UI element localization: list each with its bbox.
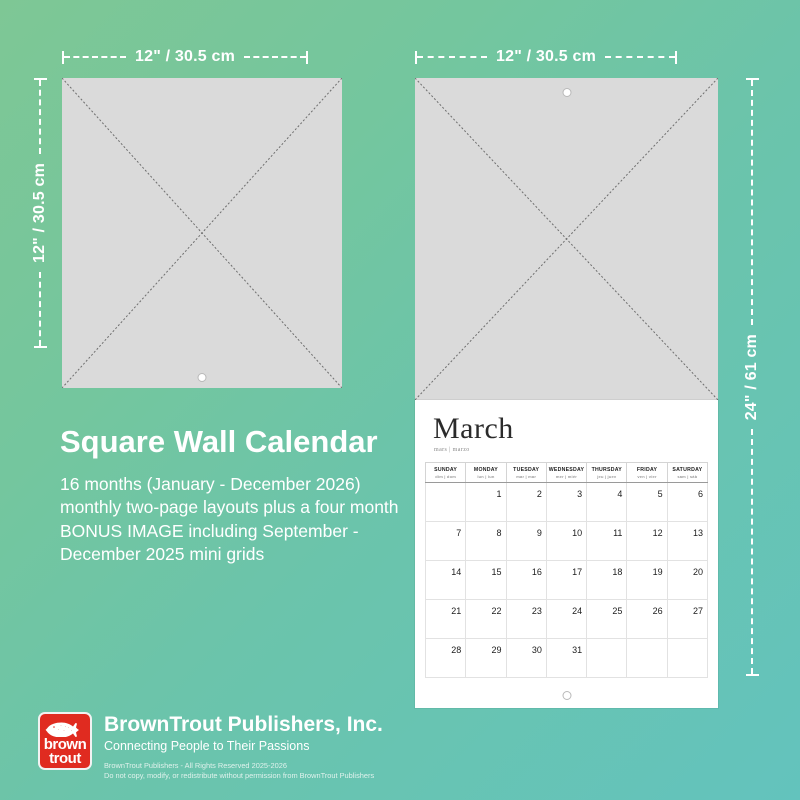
calendar-header-monday: MONDAY lun | lun	[466, 463, 506, 483]
calendar-day-number: 3	[577, 489, 582, 499]
calendar-day-cell: 22	[466, 600, 506, 639]
calendar-day-cell: 24	[546, 600, 586, 639]
weekday-alt: mar | mar	[507, 474, 546, 479]
calendar-day-cell: 15	[466, 561, 506, 600]
calendar-day-number: 5	[658, 489, 663, 499]
calendar-day-number: 23	[532, 606, 542, 616]
dimension-line	[751, 80, 753, 325]
left-cover-panel	[62, 78, 342, 388]
dimension-line	[39, 80, 41, 154]
calendar-day-cell: 16	[506, 561, 546, 600]
legal-line-1: BrownTrout Publishers - All Rights Reser…	[104, 761, 287, 770]
weekday-name: FRIDAY	[627, 467, 666, 473]
right-image-panel	[415, 78, 718, 400]
calendar-empty-cell	[587, 639, 627, 678]
dimension-line	[39, 272, 41, 346]
weekday-alt: mer | miér	[547, 474, 586, 479]
dimension-line	[64, 56, 126, 58]
calendar-day-number: 9	[537, 528, 542, 538]
calendar-header-wednesday: WEDNESDAY mer | miér	[546, 463, 586, 483]
calendar-header-row: SUNDAY dim | dom MONDAY lun | lun TUESDA…	[426, 463, 708, 483]
company-name: BrownTrout Publishers, Inc.	[104, 714, 383, 736]
marketing-text-block: Square Wall Calendar 16 months (January …	[60, 425, 410, 566]
calendar-empty-cell	[426, 483, 466, 522]
dimension-label: 24" / 61 cm	[743, 325, 761, 429]
calendar-day-cell: 20	[667, 561, 707, 600]
calendar-day-cell: 8	[466, 522, 506, 561]
calendar-week-row: 123456	[426, 483, 708, 522]
dimension-label: 12" / 30.5 cm	[487, 48, 605, 66]
browntrout-logo: brown trout	[38, 712, 92, 770]
dimension-cap	[746, 674, 759, 676]
calendar-header-tuesday: TUESDAY mar | mar	[506, 463, 546, 483]
calendar-day-number: 18	[612, 567, 622, 577]
weekday-alt: dim | dom	[426, 474, 465, 479]
dimension-cap	[34, 346, 47, 348]
calendar-header-sunday: SUNDAY dim | dom	[426, 463, 466, 483]
calendar-day-cell: 5	[627, 483, 667, 522]
calendar-day-cell: 11	[587, 522, 627, 561]
dimension-cap	[675, 51, 677, 64]
calendar-body: 1234567891011121314151617181920212223242…	[426, 483, 708, 678]
weekday-alt: sam | sáb	[668, 474, 707, 479]
weekday-name: SUNDAY	[426, 467, 465, 473]
calendar-day-cell: 4	[587, 483, 627, 522]
calendar-day-number: 17	[572, 567, 582, 577]
calendar-day-number: 27	[693, 606, 703, 616]
calendar-day-number: 21	[451, 606, 461, 616]
dimension-line	[417, 56, 487, 58]
calendar-day-cell: 13	[667, 522, 707, 561]
calendar-day-cell: 21	[426, 600, 466, 639]
dimension-cap	[306, 51, 308, 64]
calendar-grid-panel: March mars | marzo SUNDAY dim | dom MOND…	[415, 400, 718, 708]
calendar-month-title: March	[433, 414, 718, 444]
weekday-name: WEDNESDAY	[547, 467, 586, 473]
calendar-day-number: 19	[653, 567, 663, 577]
calendar-day-cell: 14	[426, 561, 466, 600]
page-title: Square Wall Calendar	[60, 425, 410, 459]
legal-line-2: Do not copy, modify, or redistribute wit…	[104, 771, 374, 780]
calendar-day-number: 2	[537, 489, 542, 499]
calendar-day-number: 24	[572, 606, 582, 616]
trout-fish-icon	[43, 720, 87, 737]
logo-word-trout: trout	[49, 752, 81, 766]
dimension-label: 12" / 30.5 cm	[31, 154, 49, 272]
legal-notice: BrownTrout Publishers - All Rights Reser…	[104, 761, 383, 781]
calendar-week-row: 28293031	[426, 639, 708, 678]
calendar-week-row: 78910111213	[426, 522, 708, 561]
calendar-day-cell: 3	[546, 483, 586, 522]
calendar-day-number: 20	[693, 567, 703, 577]
calendar-day-number: 15	[492, 567, 502, 577]
weekday-name: TUESDAY	[507, 467, 546, 473]
calendar-day-cell: 27	[667, 600, 707, 639]
dimension-line	[751, 429, 753, 674]
calendar-day-number: 26	[653, 606, 663, 616]
weekday-alt: jeu | juev	[587, 474, 626, 479]
calendar-day-cell: 30	[506, 639, 546, 678]
calendar-empty-cell	[667, 639, 707, 678]
dimension-line	[244, 56, 306, 58]
dimension-label: 12" / 30.5 cm	[126, 48, 244, 66]
calendar-day-cell: 23	[506, 600, 546, 639]
calendar-day-cell: 12	[627, 522, 667, 561]
calendar-day-number: 13	[693, 528, 703, 538]
calendar-day-number: 8	[497, 528, 502, 538]
calendar-day-cell: 19	[627, 561, 667, 600]
calendar-day-cell: 18	[587, 561, 627, 600]
calendar-day-number: 4	[617, 489, 622, 499]
calendar-day-cell: 6	[667, 483, 707, 522]
company-tagline: Connecting People to Their Passions	[104, 739, 383, 754]
calendar-day-number: 1	[497, 489, 502, 499]
dimension-line	[605, 56, 675, 58]
calendar-day-cell: 25	[587, 600, 627, 639]
hole-punch-icon	[562, 88, 571, 97]
calendar-day-number: 25	[612, 606, 622, 616]
calendar-header-thursday: THURSDAY jeu | juev	[587, 463, 627, 483]
calendar-header-saturday: SATURDAY sam | sáb	[667, 463, 707, 483]
weekday-name: SATURDAY	[668, 467, 707, 473]
calendar-empty-cell	[627, 639, 667, 678]
calendar-month-subtitle: mars | marzo	[434, 447, 718, 453]
calendar-day-number: 31	[572, 645, 582, 655]
footer: brown trout BrownTrout Publishers, Inc. …	[38, 712, 383, 781]
calendar-day-cell: 26	[627, 600, 667, 639]
calendar-header-friday: FRIDAY ven | vier	[627, 463, 667, 483]
calendar-day-cell: 7	[426, 522, 466, 561]
hole-punch-icon	[562, 691, 571, 700]
calendar-day-number: 12	[653, 528, 663, 538]
calendar-day-cell: 9	[506, 522, 546, 561]
calendar-week-row: 14151617181920	[426, 561, 708, 600]
calendar-week-row: 21222324252627	[426, 600, 708, 639]
calendar-day-number: 22	[492, 606, 502, 616]
calendar-day-cell: 31	[546, 639, 586, 678]
dimension-right-panel-width: 12" / 30.5 cm	[415, 50, 718, 64]
calendar-day-number: 10	[572, 528, 582, 538]
panel-diagonal-lines	[62, 78, 342, 388]
calendar-day-number: 11	[613, 528, 622, 538]
calendar-day-number: 29	[492, 645, 502, 655]
dimension-total-height: 24" / 61 cm	[745, 78, 759, 708]
panel-diagonal-lines	[415, 78, 718, 400]
dimension-left-panel-height: 12" / 30.5 cm	[33, 78, 47, 388]
calendar-day-cell: 17	[546, 561, 586, 600]
calendar-table: SUNDAY dim | dom MONDAY lun | lun TUESDA…	[425, 462, 708, 678]
weekday-alt: lun | lun	[466, 474, 505, 479]
product-description: 16 months (January - December 2026) mont…	[60, 473, 410, 566]
hole-punch-icon	[198, 373, 207, 382]
calendar-day-number: 16	[532, 567, 542, 577]
dimension-left-panel-width: 12" / 30.5 cm	[62, 50, 342, 64]
weekday-name: MONDAY	[466, 467, 505, 473]
calendar-day-cell: 10	[546, 522, 586, 561]
calendar-day-number: 30	[532, 645, 542, 655]
calendar-day-number: 6	[698, 489, 703, 499]
calendar-day-cell: 2	[506, 483, 546, 522]
weekday-alt: ven | vier	[627, 474, 666, 479]
calendar-day-number: 28	[451, 645, 461, 655]
calendar-day-number: 7	[456, 528, 461, 538]
calendar-day-cell: 29	[466, 639, 506, 678]
calendar-day-cell: 28	[426, 639, 466, 678]
calendar-day-number: 14	[451, 567, 461, 577]
calendar-day-cell: 1	[466, 483, 506, 522]
footer-text-block: BrownTrout Publishers, Inc. Connecting P…	[104, 712, 383, 781]
weekday-name: THURSDAY	[587, 467, 626, 473]
